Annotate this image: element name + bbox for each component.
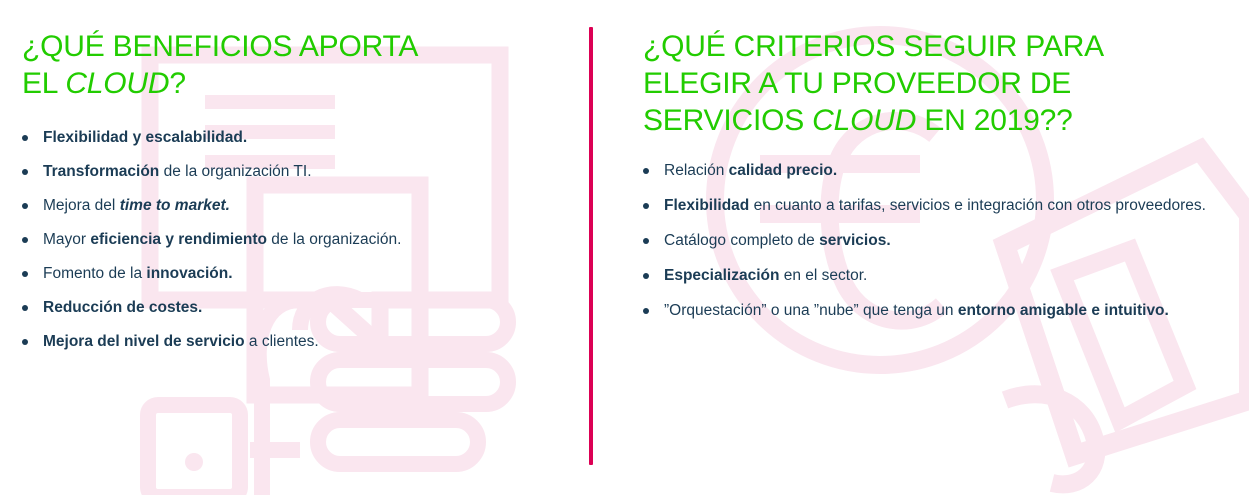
content-columns: ¿QUÉ BENEFICIOS APORTA EL CLOUD? Flexibi… [0,0,1249,495]
right-column-heading: ¿QUÉ CRITERIOS SEGUIR PARA ELEGIR A TU P… [643,28,1113,139]
left-bullet-0-part-0: Flexibilidad y escalabilidad. [43,129,247,146]
left-bullet-6-part-0: Mejora del nivel de servicio [43,333,245,350]
right-heading-line3-italic: CLOUD [812,104,916,137]
left-heading-line2-suffix: ? [169,67,186,100]
list-item: Transformación de la organización TI. [22,162,569,182]
column-divider [589,27,593,465]
right-bullet-4-part-1: entorno amigable e intuitivo. [958,302,1169,319]
list-item: Especialización en el sector. [643,266,1227,286]
list-item: Relación calidad precio. [643,161,1227,181]
list-item: Reducción de costes. [22,298,569,318]
right-bullet-4-part-0: ”Orquestación” o una ”nube” que tenga un [664,302,958,319]
left-bullet-2-part-1: time to market. [120,197,230,214]
left-column-heading: ¿QUÉ BENEFICIOS APORTA EL CLOUD? [22,28,492,102]
list-item: Mayor eficiencia y rendimiento de la org… [22,230,569,250]
left-bullet-4-part-0: Fomento de la [43,265,146,282]
left-column: ¿QUÉ BENEFICIOS APORTA EL CLOUD? Flexibi… [0,0,591,495]
slide-canvas: ¿QUÉ BENEFICIOS APORTA EL CLOUD? Flexibi… [0,0,1249,495]
right-bullet-1-part-0: Flexibilidad [664,197,749,214]
right-heading-line3-suffix: EN 2019?? [916,104,1072,137]
right-bullet-1-part-1: en cuanto a tarifas, servicios e integra… [749,197,1206,214]
left-heading-line2-prefix: EL [22,67,65,100]
left-bullet-1-part-0: Transformación [43,163,159,180]
left-bullet-6-part-1: a clientes. [245,333,319,350]
left-heading-line1: ¿QUÉ BENEFICIOS APORTA [22,30,418,63]
right-column: ¿QUÉ CRITERIOS SEGUIR PARA ELEGIR A TU P… [591,0,1249,495]
right-heading-line1: ¿QUÉ CRITERIOS SEGUIR PARA [643,30,1104,63]
left-bullet-3-part-2: de la organización. [267,231,401,248]
list-item: Mejora del nivel de servicio a clientes. [22,332,569,352]
right-bullet-3-part-0: Especialización [664,267,779,284]
list-item: Flexibilidad en cuanto a tarifas, servic… [643,196,1227,216]
right-heading-line2: ELEGIR A TU PROVEEDOR DE [643,67,1071,100]
left-bullet-list: Flexibilidad y escalabilidad.Transformac… [22,128,569,352]
left-heading-line2-italic: CLOUD [65,67,169,100]
list-item: ”Orquestación” o una ”nube” que tenga un… [643,301,1227,321]
right-heading-line3-prefix: SERVICIOS [643,104,812,137]
left-bullet-2-part-0: Mejora del [43,197,120,214]
right-bullet-0-part-0: Relación [664,162,729,179]
list-item: Catálogo completo de servicios. [643,231,1227,251]
list-item: Mejora del time to market. [22,196,569,216]
right-bullet-2-part-1: servicios. [819,232,891,249]
list-item: Fomento de la innovación. [22,264,569,284]
right-bullet-0-part-1: calidad precio. [729,162,838,179]
left-bullet-4-part-1: innovación. [146,265,232,282]
left-bullet-3-part-0: Mayor [43,231,90,248]
right-bullet-3-part-1: en el sector. [779,267,867,284]
left-bullet-1-part-1: de la organización TI. [159,163,311,180]
left-bullet-5-part-0: Reducción de costes. [43,299,202,316]
list-item: Flexibilidad y escalabilidad. [22,128,569,148]
right-bullet-2-part-0: Catálogo completo de [664,232,819,249]
left-bullet-3-part-1: eficiencia y rendimiento [90,231,267,248]
right-bullet-list: Relación calidad precio.Flexibilidad en … [643,161,1227,321]
